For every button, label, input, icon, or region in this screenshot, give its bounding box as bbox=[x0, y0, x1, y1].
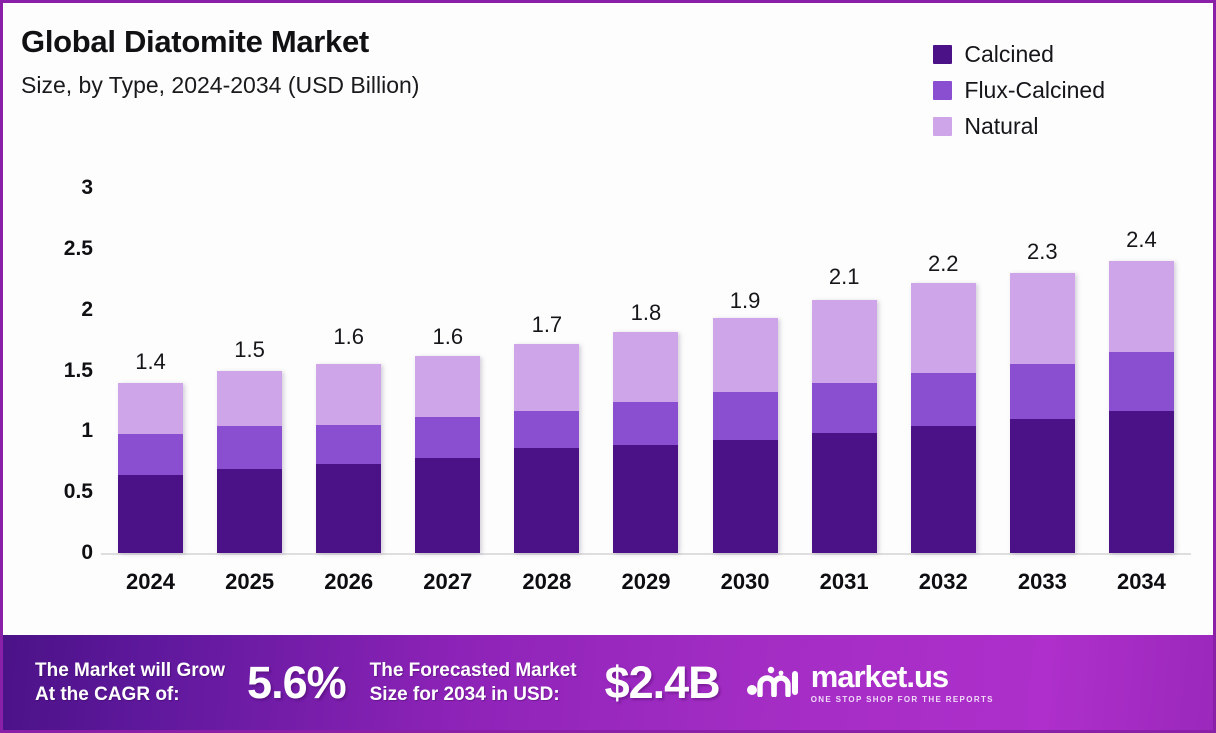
bar-group: 1.420241.520251.620261.620271.720281.820… bbox=[101, 153, 1191, 553]
logo-tagline: ONE STOP SHOP FOR THE REPORTS bbox=[811, 696, 994, 704]
bar-value-label: 1.5 bbox=[200, 337, 299, 363]
bar-segment-natural[interactable] bbox=[613, 332, 678, 403]
bar-segment-flux-calcined[interactable] bbox=[217, 426, 282, 469]
stacked-bar[interactable] bbox=[514, 344, 579, 553]
chart-plot-area: 00.511.522.53 1.420241.520251.620261.620… bbox=[3, 153, 1216, 613]
bar-value-label: 2.2 bbox=[894, 251, 993, 277]
stacked-bar[interactable] bbox=[118, 383, 183, 553]
bar-segment-flux-calcined[interactable] bbox=[713, 392, 778, 439]
bar-segment-flux-calcined[interactable] bbox=[415, 417, 480, 458]
bar-value-label: 1.7 bbox=[497, 312, 596, 338]
bar-segment-calcined[interactable] bbox=[514, 448, 579, 553]
x-axis-label: 2029 bbox=[596, 569, 695, 595]
y-axis-tick: 2 bbox=[81, 298, 93, 322]
stacked-bar[interactable] bbox=[713, 318, 778, 553]
x-axis-label: 2024 bbox=[101, 569, 200, 595]
bar-segment-natural[interactable] bbox=[911, 283, 976, 373]
forecast-value: $2.4B bbox=[605, 657, 720, 709]
bar-segment-natural[interactable] bbox=[713, 318, 778, 392]
bar-value-label: 1.6 bbox=[299, 324, 398, 350]
bar-segment-calcined[interactable] bbox=[1109, 411, 1174, 553]
legend-swatch-icon bbox=[933, 45, 952, 64]
bar-value-label: 1.8 bbox=[596, 300, 695, 326]
bar-segment-calcined[interactable] bbox=[713, 440, 778, 553]
bar-column[interactable]: 1.92030 bbox=[696, 153, 795, 553]
bar-segment-calcined[interactable] bbox=[217, 469, 282, 553]
page-title: Global Diatomite Market bbox=[21, 25, 419, 59]
legend-item-natural[interactable]: Natural bbox=[933, 115, 1105, 138]
x-axis-label: 2034 bbox=[1092, 569, 1191, 595]
stacked-bar[interactable] bbox=[316, 364, 381, 553]
bar-value-label: 1.6 bbox=[398, 324, 497, 350]
bar-column[interactable]: 1.42024 bbox=[101, 153, 200, 553]
bar-segment-flux-calcined[interactable] bbox=[514, 411, 579, 449]
cagr-caption: The Market will Grow At the CAGR of: bbox=[35, 659, 225, 707]
bar-column[interactable]: 2.12031 bbox=[795, 153, 894, 553]
bar-segment-flux-calcined[interactable] bbox=[1010, 364, 1075, 419]
bar-segment-flux-calcined[interactable] bbox=[613, 402, 678, 445]
bar-value-label: 1.9 bbox=[696, 288, 795, 314]
bar-segment-calcined[interactable] bbox=[415, 458, 480, 553]
bar-segment-flux-calcined[interactable] bbox=[118, 434, 183, 475]
bar-column[interactable]: 2.32033 bbox=[993, 153, 1092, 553]
bar-segment-natural[interactable] bbox=[1010, 273, 1075, 364]
bar-value-label: 1.4 bbox=[101, 349, 200, 375]
bar-segment-natural[interactable] bbox=[812, 300, 877, 383]
x-axis-label: 2028 bbox=[497, 569, 596, 595]
page-subtitle: Size, by Type, 2024-2034 (USD Billion) bbox=[21, 72, 419, 99]
infographic-card: Global Diatomite Market Size, by Type, 2… bbox=[0, 0, 1216, 733]
x-axis-label: 2027 bbox=[398, 569, 497, 595]
y-axis-tick: 2.5 bbox=[64, 237, 93, 261]
legend-item-calcined[interactable]: Calcined bbox=[933, 43, 1105, 66]
bar-column[interactable]: 1.62026 bbox=[299, 153, 398, 553]
bar-segment-calcined[interactable] bbox=[1010, 419, 1075, 553]
x-axis-label: 2031 bbox=[795, 569, 894, 595]
header: Global Diatomite Market Size, by Type, 2… bbox=[21, 25, 419, 99]
market-us-logo[interactable]: market.us ONE STOP SHOP FOR THE REPORTS bbox=[746, 661, 994, 704]
bar-column[interactable]: 1.52025 bbox=[200, 153, 299, 553]
bar-segment-natural[interactable] bbox=[415, 356, 480, 417]
bar-value-label: 2.3 bbox=[993, 239, 1092, 265]
legend-item-flux-calcined[interactable]: Flux-Calcined bbox=[933, 79, 1105, 102]
legend-item-label: Flux-Calcined bbox=[964, 79, 1105, 102]
bar-segment-natural[interactable] bbox=[316, 364, 381, 425]
chart-legend: CalcinedFlux-CalcinedNatural bbox=[933, 43, 1105, 138]
legend-item-label: Calcined bbox=[964, 43, 1054, 66]
stacked-bar[interactable] bbox=[911, 283, 976, 553]
bar-segment-flux-calcined[interactable] bbox=[812, 383, 877, 433]
stacked-bar[interactable] bbox=[613, 332, 678, 553]
bar-segment-flux-calcined[interactable] bbox=[316, 425, 381, 464]
bar-column[interactable]: 1.72028 bbox=[497, 153, 596, 553]
bar-segment-natural[interactable] bbox=[118, 383, 183, 434]
stacked-bar[interactable] bbox=[1010, 273, 1075, 553]
y-axis: 00.511.522.53 bbox=[47, 153, 93, 553]
legend-swatch-icon bbox=[933, 81, 952, 100]
market-us-logomark-icon bbox=[746, 663, 802, 702]
x-axis-label: 2030 bbox=[696, 569, 795, 595]
bar-value-label: 2.4 bbox=[1092, 227, 1191, 253]
x-axis-label: 2026 bbox=[299, 569, 398, 595]
bar-segment-flux-calcined[interactable] bbox=[911, 373, 976, 427]
forecast-caption: The Forecasted Market Size for 2034 in U… bbox=[370, 659, 577, 707]
y-axis-tick: 1.5 bbox=[64, 359, 93, 383]
stacked-bar[interactable] bbox=[1109, 261, 1174, 553]
stacked-bar[interactable] bbox=[415, 356, 480, 553]
bar-column[interactable]: 2.42034 bbox=[1092, 153, 1191, 553]
bar-value-label: 2.1 bbox=[795, 264, 894, 290]
x-axis-label: 2033 bbox=[993, 569, 1092, 595]
bar-segment-calcined[interactable] bbox=[812, 433, 877, 553]
bar-segment-flux-calcined[interactable] bbox=[1109, 352, 1174, 410]
bar-segment-natural[interactable] bbox=[1109, 261, 1174, 352]
y-axis-tick: 3 bbox=[81, 176, 93, 200]
logo-name: market.us bbox=[811, 661, 994, 692]
bar-segment-natural[interactable] bbox=[217, 371, 282, 427]
y-axis-tick: 0.5 bbox=[64, 480, 93, 504]
y-axis-tick: 1 bbox=[81, 419, 93, 443]
bar-column[interactable]: 2.22032 bbox=[894, 153, 993, 553]
legend-item-label: Natural bbox=[964, 115, 1038, 138]
bar-segment-calcined[interactable] bbox=[613, 445, 678, 553]
y-axis-tick: 0 bbox=[81, 541, 93, 565]
bar-column[interactable]: 1.82029 bbox=[596, 153, 695, 553]
stacked-bar[interactable] bbox=[217, 371, 282, 553]
legend-swatch-icon bbox=[933, 117, 952, 136]
bar-segment-calcined[interactable] bbox=[316, 464, 381, 553]
x-axis-line bbox=[101, 553, 1191, 555]
x-axis-label: 2032 bbox=[894, 569, 993, 595]
logo-text-block: market.us ONE STOP SHOP FOR THE REPORTS bbox=[811, 661, 994, 704]
footer-banner: The Market will Grow At the CAGR of: 5.6… bbox=[3, 635, 1213, 730]
cagr-value: 5.6% bbox=[247, 657, 346, 709]
bar-column[interactable]: 1.62027 bbox=[398, 153, 497, 553]
x-axis-label: 2025 bbox=[200, 569, 299, 595]
bar-segment-natural[interactable] bbox=[514, 344, 579, 411]
bar-segment-calcined[interactable] bbox=[118, 475, 183, 553]
stacked-bar[interactable] bbox=[812, 300, 877, 553]
bar-segment-calcined[interactable] bbox=[911, 426, 976, 553]
